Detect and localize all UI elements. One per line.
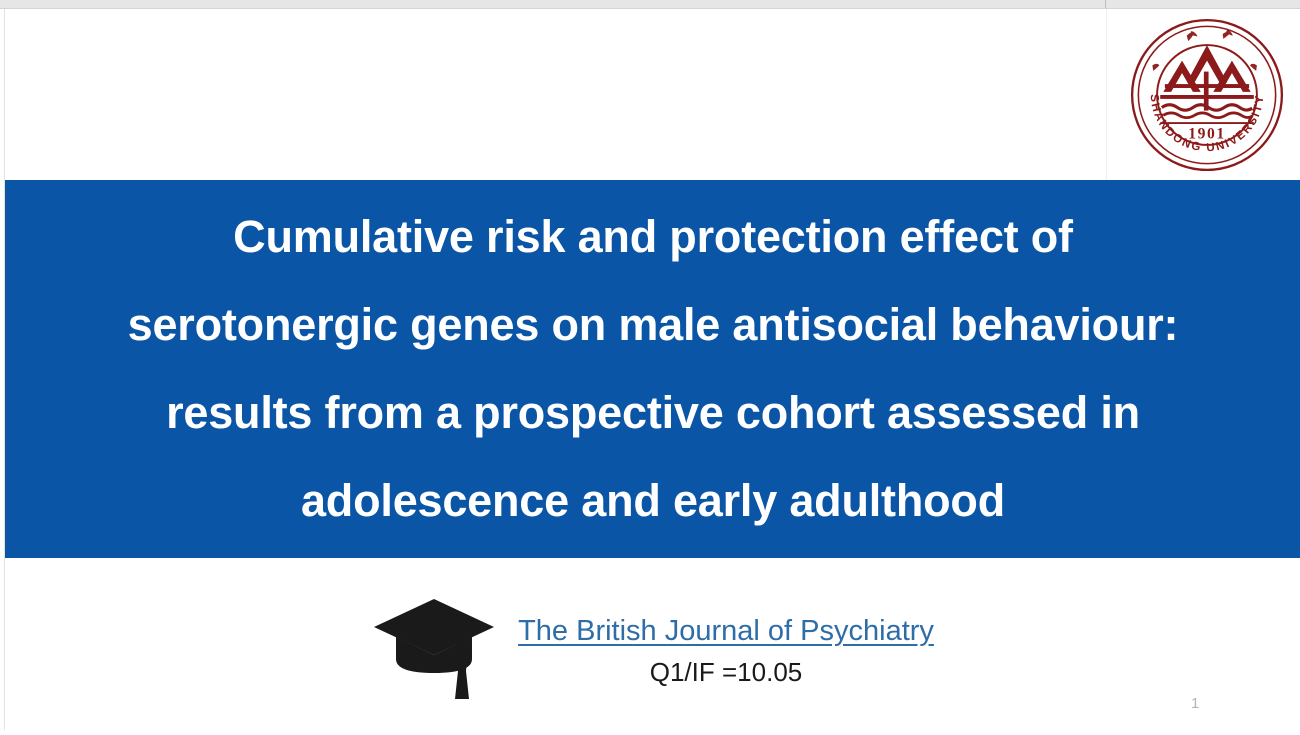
title-line-3: results from a prospective cohort assess…	[166, 369, 1140, 457]
layout-guide-line	[1106, 9, 1107, 181]
slide-page-number: 1	[1191, 695, 1199, 712]
window-chrome-strip	[0, 0, 1300, 9]
title-line-1: Cumulative risk and protection effect of	[233, 193, 1073, 281]
journal-impact-factor: Q1/IF =10.05	[650, 657, 802, 688]
shandong-university-logo: 1901 SHANDONG UNIVERSITY	[1129, 17, 1285, 173]
journal-text-group: The British Journal of Psychiatry Q1/IF …	[518, 589, 934, 688]
graduation-cap-icon	[372, 593, 496, 705]
journal-name-link[interactable]: The British Journal of Psychiatry	[518, 615, 934, 648]
title-banner: Cumulative risk and protection effect of…	[5, 180, 1300, 558]
title-line-4: adolescence and early adulthood	[301, 457, 1005, 545]
chrome-pane-divider	[1105, 0, 1106, 8]
journal-block: The British Journal of Psychiatry Q1/IF …	[5, 589, 1300, 705]
title-line-2: serotonergic genes on male antisocial be…	[128, 281, 1179, 369]
slide-canvas: 1901 SHANDONG UNIVERSITY Cumulative risk…	[4, 9, 1300, 730]
